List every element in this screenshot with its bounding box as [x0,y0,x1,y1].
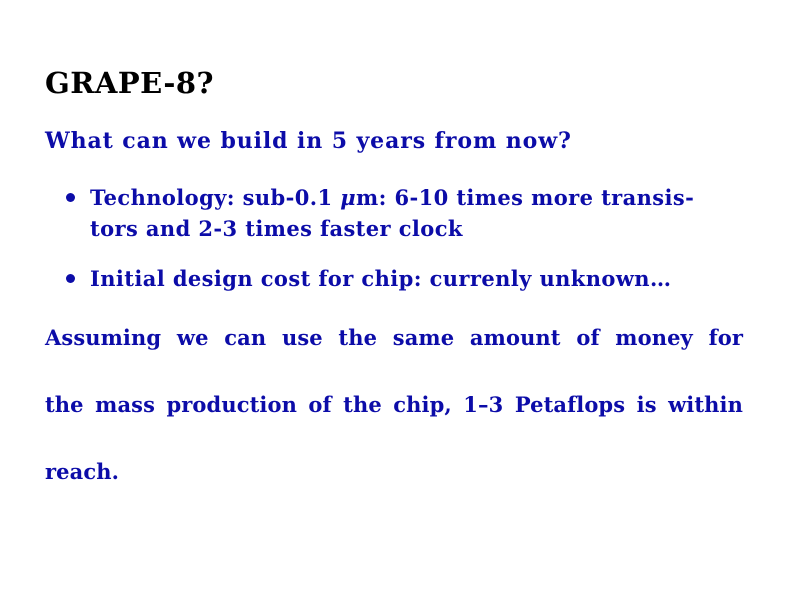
list-item-text: Technology: sub-0.1 μm: 6-10 times more … [90,182,743,244]
lead-question: What can we build in 5 years from now? [45,126,743,156]
page-title: GRAPE-8? [45,66,214,100]
bullet-1-segment-b: m: 6-10 times more transis- [356,185,694,210]
bullet-1-segment-a: Technology: sub-0.1 [90,185,340,210]
list-item: Initial design cost for chip: currenly u… [45,263,743,294]
bullet-1-line-2: tors and 2-3 times faster clock [90,216,463,241]
list-item: Technology: sub-0.1 μm: 6-10 times more … [45,182,743,244]
bullet-list: Technology: sub-0.1 μm: 6-10 times more … [45,182,743,294]
closing-line-1: Assuming we can use the same amount of m… [45,321,743,388]
closing-paragraph: Assuming we can use the same amount of m… [45,321,743,489]
list-item-text: Initial design cost for chip: currenly u… [90,263,743,294]
closing-line-3: reach. [45,455,743,489]
mu-symbol: μ [340,185,356,210]
filled-circle-bullet-icon [66,274,75,283]
filled-circle-bullet-icon [66,193,75,202]
slide-canvas: GRAPE-8? What can we build in 5 years fr… [0,0,800,600]
closing-line-2: the mass production of the chip, 1–3 Pet… [45,388,743,455]
slide-body: What can we build in 5 years from now? T… [45,126,743,489]
